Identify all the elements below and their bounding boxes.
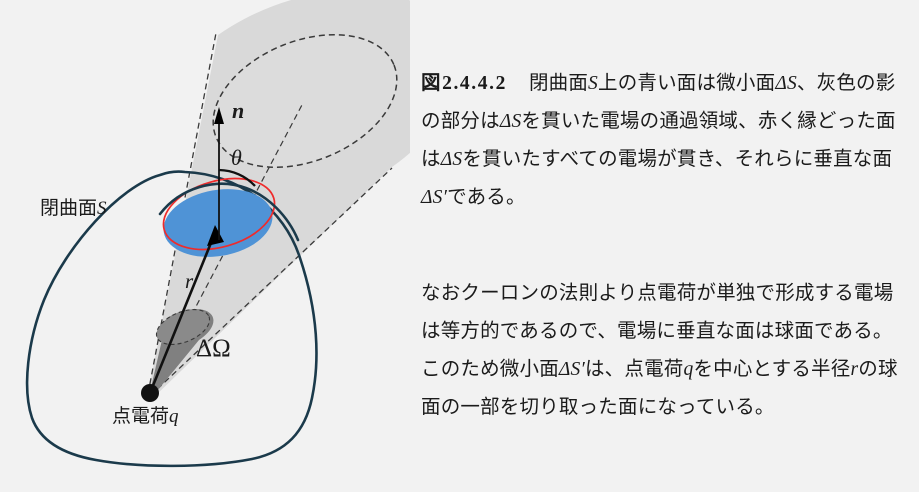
label-theta: θ: [231, 145, 242, 170]
p1-seg5: を貫いたすべての電場が貫き、それらに垂直な面: [462, 149, 892, 170]
p1-sym2: ΔS: [775, 73, 797, 94]
p2-sym1: ΔS′: [559, 359, 585, 380]
figure-number: 図2.4.4.2: [421, 73, 507, 94]
p2-seg2: は、点電荷: [585, 359, 684, 380]
caption-panel: 図2.4.4.2閉曲面S上の青い面は微小面ΔS、灰色の影の部分はΔSを貫いた電場…: [419, 0, 911, 492]
p2-sym2: q: [683, 359, 693, 380]
p1-seg6: である。: [447, 187, 526, 208]
p1-sym5: ΔS′: [421, 187, 447, 208]
label-closed-surface: 閉曲面S: [40, 197, 107, 219]
point-charge-dot: [141, 384, 159, 402]
p1-sym1: S: [588, 73, 598, 94]
label-normal-vector: n: [232, 98, 244, 123]
p2-seg3: を中心とする半径: [693, 359, 850, 380]
p1-sym4: ΔS: [441, 149, 463, 170]
label-radius: r: [185, 269, 194, 293]
p1-sym3: ΔS: [500, 111, 522, 132]
gauss-law-diagram-svg: 閉曲面S n θ r ΔΩ 点電荷q: [0, 0, 410, 492]
label-point-charge-text: 点電荷: [112, 405, 169, 427]
label-point-charge: 点電荷q: [112, 405, 179, 427]
p1-seg2: 上の青い面は微小面: [598, 73, 775, 94]
label-solid-angle: ΔΩ: [196, 335, 231, 362]
label-closed-surface-text: 閉曲面: [40, 197, 97, 219]
figure-page: 閉曲面S n θ r ΔΩ 点電荷q 図2.4.4.2閉曲面S上の青い面は微小面…: [0, 0, 919, 492]
p1-seg1: 閉曲面: [529, 73, 588, 94]
caption-paragraph-2: なおクーロンの法則より点電荷が単独で形成する電場は等方的であるので、電場に垂直な…: [421, 275, 899, 427]
label-point-charge-sym: q: [169, 406, 179, 427]
label-closed-surface-sym: S: [97, 198, 107, 219]
figure-illustration-panel: 閉曲面S n θ r ΔΩ 点電荷q: [0, 0, 410, 492]
caption-paragraph-1: 図2.4.4.2閉曲面S上の青い面は微小面ΔS、灰色の影の部分はΔSを貫いた電場…: [421, 65, 911, 217]
